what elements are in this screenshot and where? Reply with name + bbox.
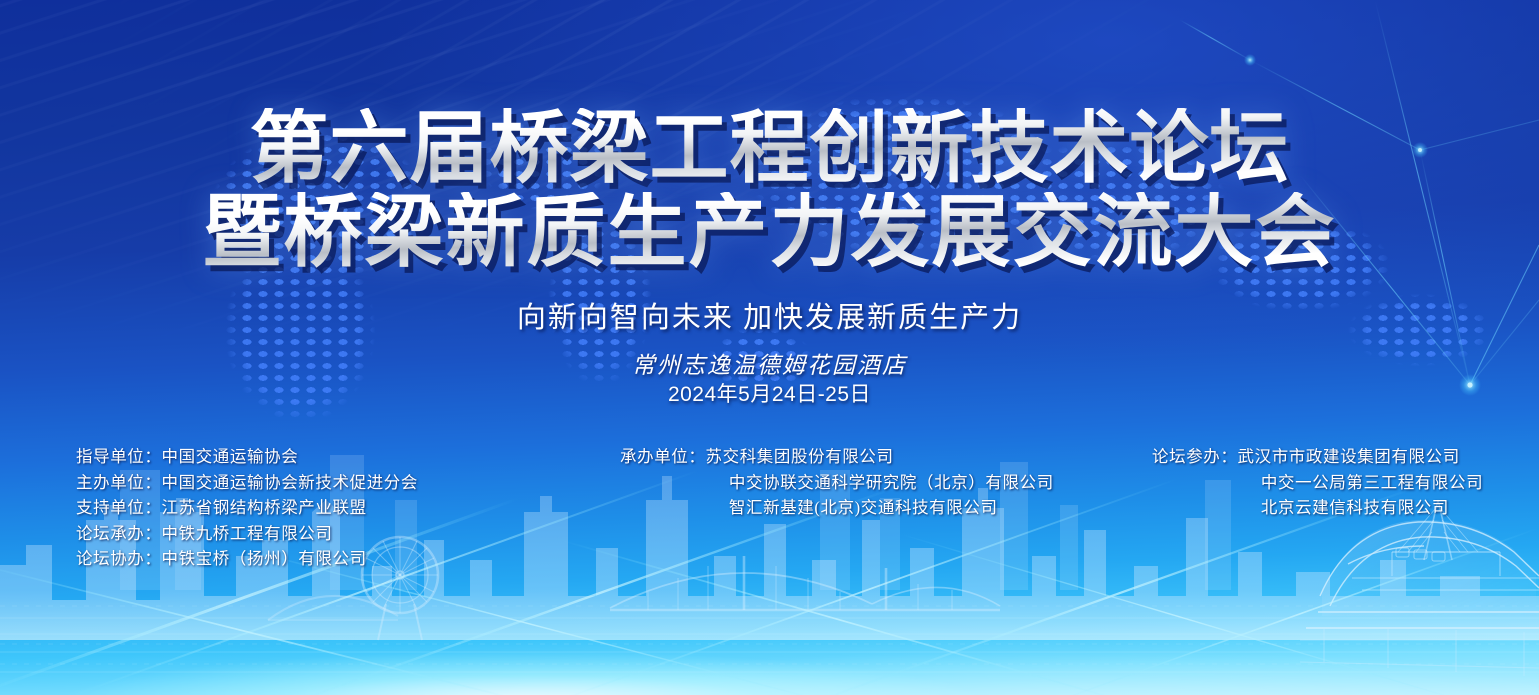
credit-row: 中交协联交通科学研究院（北京）有限公司: [620, 470, 1054, 496]
credit-row: 智汇新基建(北京)交通科技有限公司: [620, 495, 1054, 521]
conference-banner: 第六届桥梁工程创新技术论坛 暨桥梁新质生产力发展交流大会 向新向智向未来 加快发…: [0, 0, 1539, 695]
credit-row: 论坛参办：武汉市市政建设集团有限公司: [1152, 444, 1483, 470]
credit-label: 论坛参办：: [1152, 444, 1238, 470]
credit-label: 支持单位：: [76, 495, 162, 521]
conference-slogan: 向新向智向未来 加快发展新质生产力: [0, 294, 1539, 336]
credit-row: 论坛协办：中铁宝桥（扬州）有限公司: [76, 546, 418, 572]
credit-value: 智汇新基建(北京)交通科技有限公司: [729, 498, 998, 517]
credit-label: 主办单位：: [76, 470, 162, 496]
credits-column-middle: 承办单位：苏交科集团股份有限公司 中交协联交通科学研究院（北京）有限公司 智汇新…: [620, 444, 1054, 521]
credit-row: 主办单位：中国交通运输协会新技术促进分会: [76, 470, 418, 496]
credit-label: 论坛承办：: [76, 521, 162, 547]
credit-label: 论坛协办：: [76, 546, 162, 572]
conference-title-line-1: 第六届桥梁工程创新技术论坛: [0, 108, 1539, 192]
credit-row: 北京云建信科技有限公司: [1152, 495, 1483, 521]
event-date: 2024年5月24日-25日: [0, 381, 1539, 409]
credit-value: 中国交通运输协会: [162, 447, 299, 466]
credit-value: 中铁宝桥（扬州）有限公司: [162, 549, 367, 568]
credit-value: 中交一公局第三工程有限公司: [1261, 473, 1483, 492]
conference-title-line-2: 暨桥梁新质生产力发展交流大会: [0, 192, 1539, 276]
credit-label: 承办单位：: [620, 444, 706, 470]
credits-column-right: 论坛参办：武汉市市政建设集团有限公司 中交一公局第三工程有限公司 北京云建信科技…: [1152, 444, 1483, 521]
title-block: 第六届桥梁工程创新技术论坛 暨桥梁新质生产力发展交流大会: [0, 108, 1539, 276]
credit-value: 苏交科集团股份有限公司: [706, 447, 894, 466]
credit-value: 北京云建信科技有限公司: [1261, 498, 1449, 517]
credit-row: 指导单位：中国交通运输协会: [76, 444, 418, 470]
credit-row: 支持单位：江苏省钢结构桥梁产业联盟: [76, 495, 418, 521]
credit-value: 武汉市市政建设集团有限公司: [1238, 447, 1460, 466]
venue-block: 常州志逸温德姆花园酒店 2024年5月24日-25日: [0, 352, 1539, 409]
credit-value: 中交协联交通科学研究院（北京）有限公司: [729, 473, 1054, 492]
credit-value: 中国交通运输协会新技术促进分会: [162, 473, 419, 492]
venue-name: 常州志逸温德姆花园酒店: [0, 352, 1539, 380]
credit-value: 江苏省钢结构桥梁产业联盟: [162, 498, 367, 517]
credit-row: 中交一公局第三工程有限公司: [1152, 470, 1483, 496]
credit-row: 承办单位：苏交科集团股份有限公司: [620, 444, 1054, 470]
organizer-credits: 指导单位：中国交通运输协会 主办单位：中国交通运输协会新技术促进分会 支持单位：…: [0, 444, 1539, 564]
credit-row: 论坛承办：中铁九桥工程有限公司: [76, 521, 418, 547]
credit-value: 中铁九桥工程有限公司: [162, 524, 333, 543]
credits-column-left: 指导单位：中国交通运输协会 主办单位：中国交通运输协会新技术促进分会 支持单位：…: [76, 444, 418, 572]
credit-label: 指导单位：: [76, 444, 162, 470]
foreground-graphics: [0, 0, 1539, 695]
